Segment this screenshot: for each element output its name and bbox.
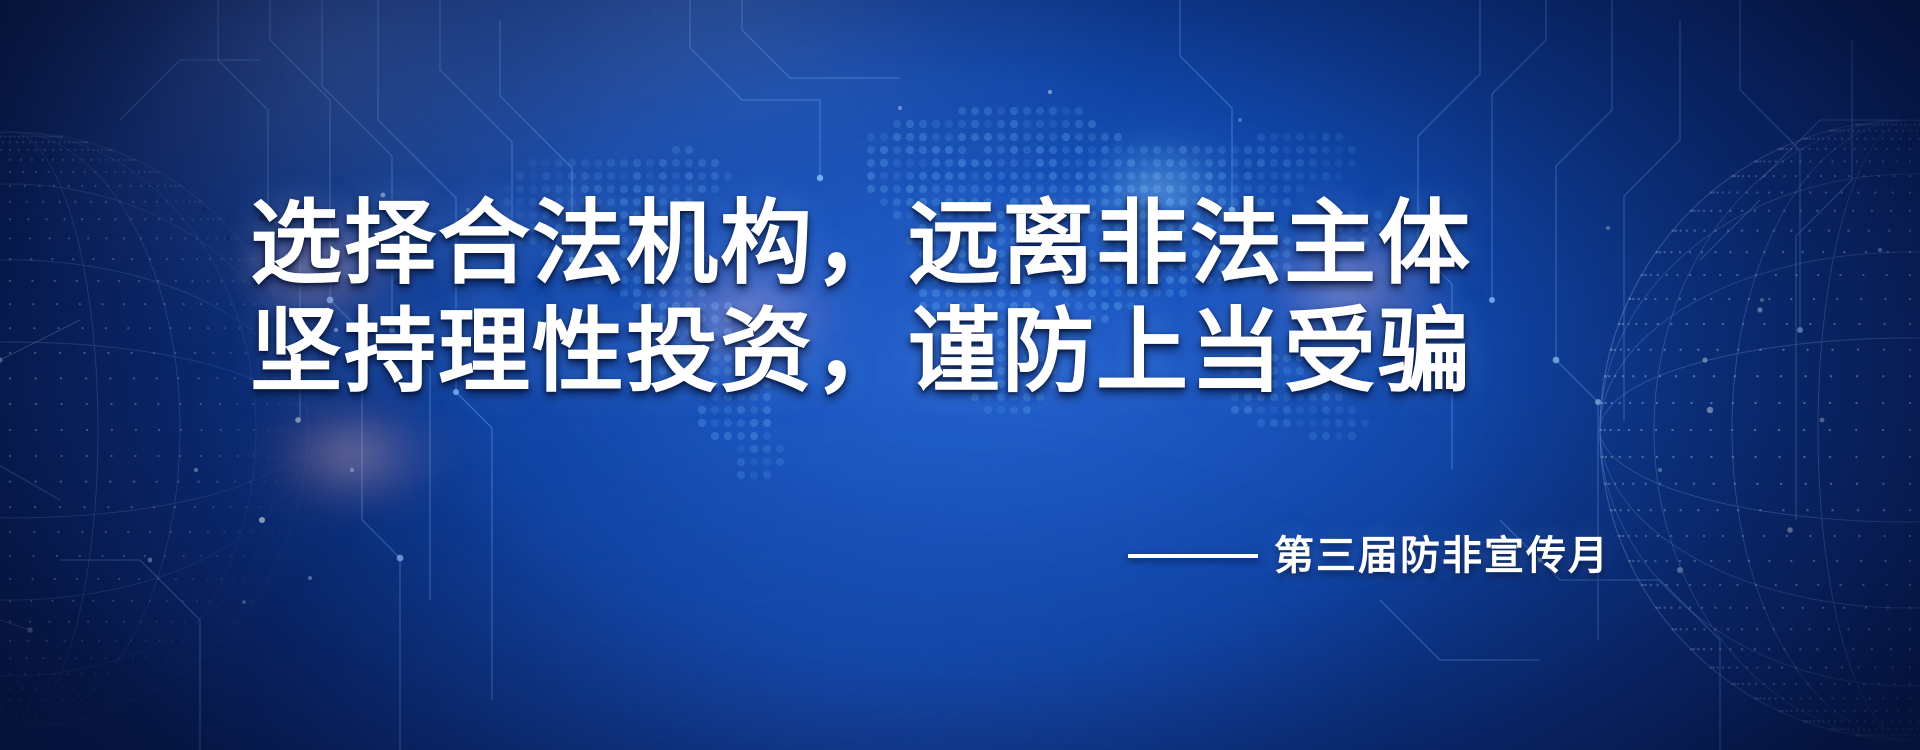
warm-accent-glow-right bbox=[1255, 225, 1445, 345]
warm-accent-glow-lower-left bbox=[255, 395, 445, 515]
warm-accent-glow-left bbox=[230, 205, 400, 325]
wireframe-globe-left-icon bbox=[0, 120, 320, 740]
headline-line-2: 坚持理性投资，谨防上当受骗 bbox=[250, 306, 1370, 398]
light-bloom-top-left bbox=[0, 0, 700, 360]
cool-accent-glow-top bbox=[1080, 135, 1240, 245]
banner-text-block: 选择合法机构，远离非法主体 坚持理性投资，谨防上当受骗 第三届防非宣传月 bbox=[0, 0, 1920, 750]
attribution-label: 第三届防非宣传月 bbox=[1274, 536, 1610, 576]
circuit-traces-icon bbox=[0, 0, 1920, 750]
promo-banner: 选择合法机构，远离非法主体 坚持理性投资，谨防上当受骗 第三届防非宣传月 bbox=[0, 0, 1920, 750]
light-bloom-top-middle bbox=[300, 0, 1120, 300]
dot-matrix-world-map-icon bbox=[455, 85, 1465, 555]
attribution-dash-icon bbox=[1128, 554, 1258, 558]
light-bloom-bottom bbox=[280, 470, 1380, 750]
attribution-row: 第三届防非宣传月 bbox=[250, 536, 1610, 576]
warm-accent-glow-center bbox=[640, 250, 850, 380]
wireframe-globe-right-icon bbox=[1590, 110, 1920, 750]
floating-particles-icon bbox=[0, 0, 1920, 750]
light-bloom-center bbox=[430, 110, 1490, 630]
vignette-overlay bbox=[0, 0, 1920, 750]
headline-line-1: 选择合法机构，远离非法主体 bbox=[250, 198, 1370, 290]
